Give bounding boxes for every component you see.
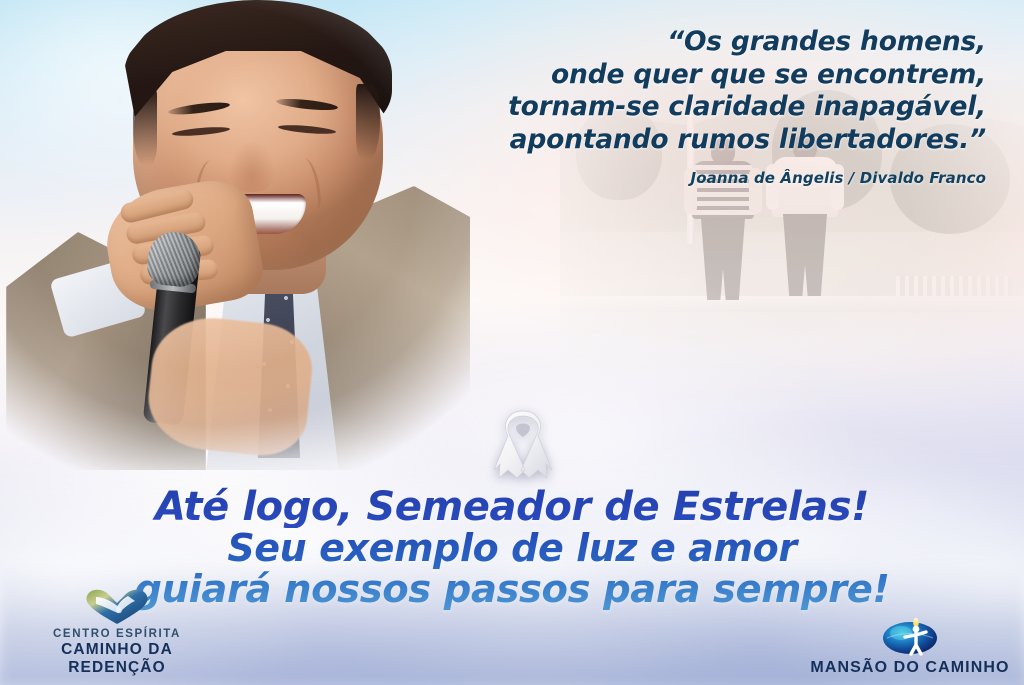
quote-line-3: tornam-se claridade inapagável,: [426, 91, 986, 124]
headline-line-2: Seu exemplo de luz e amor: [0, 528, 1024, 569]
memorial-poster: “Os grandes homens, onde quer que se enc…: [0, 0, 1024, 685]
portrait-divaldo-franco: [0, 0, 470, 470]
portrait-sideburn-left: [133, 88, 157, 166]
globe-figure-flame-icon: [879, 612, 941, 656]
logo-mansao-do-caminho[interactable]: MANSÃO DO CAMINHO: [804, 612, 1016, 677]
mourning-ribbon-icon: [486, 408, 560, 486]
logo-left-line-1: CENTRO ESPÍRITA: [10, 628, 224, 641]
photo-figure-legs: [701, 218, 745, 300]
photo-figure-legs: [783, 214, 827, 296]
logo-centro-espirita[interactable]: CENTRO ESPÍRITA CAMINHO DA REDENÇÃO: [10, 587, 224, 677]
logo-right-line-1: MANSÃO DO CAMINHO: [804, 659, 1016, 677]
logo-left-line-2: CAMINHO DA REDENÇÃO: [10, 641, 224, 677]
quote-line-1: “Os grandes homens,: [426, 26, 986, 59]
quote-line-2: onde quer que se encontrem,: [426, 59, 986, 92]
photo-ground: [560, 312, 1024, 410]
quote-attribution: Joanna de Ângelis / Divaldo Franco: [426, 169, 986, 187]
quote-line-4: apontando rumos libertadores.”: [426, 124, 986, 157]
portrait-nose: [228, 140, 276, 192]
quote-block: “Os grandes homens, onde quer que se enc…: [426, 26, 986, 187]
heart-hands-icon: [82, 587, 152, 625]
portrait-sideburn-right: [356, 84, 380, 160]
headline-line-1: Até logo, Semeador de Estrelas!: [0, 486, 1024, 528]
